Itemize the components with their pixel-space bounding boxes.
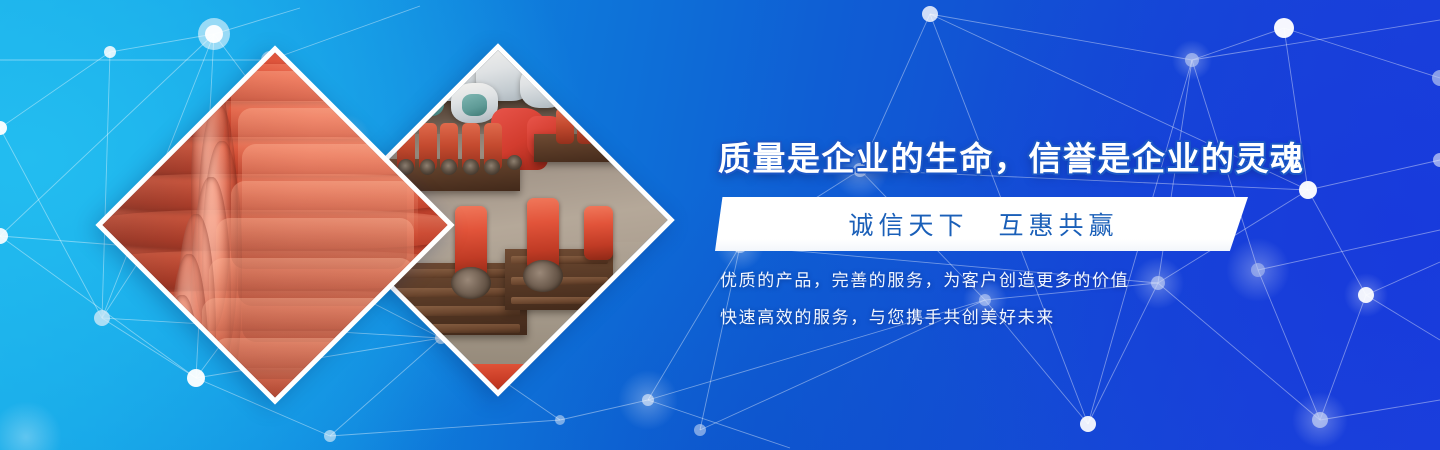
promotional-banner: 质量是企业的生命，信誉是企业的灵魂 诚信天下 互惠共赢 优质的产品，完善的服务，…	[0, 0, 1440, 450]
shaft-bore	[420, 159, 436, 175]
shaft-flange	[451, 267, 491, 299]
headline-slogan: 质量是企业的生命，信誉是企业的灵魂	[718, 137, 1248, 181]
ribbon-slogan-text: 诚信天下 互惠共赢	[715, 197, 1248, 251]
drive-shaft	[584, 206, 613, 260]
shaft-bore	[441, 159, 457, 175]
shaft-bore	[484, 159, 500, 175]
subtitle-line-2: 快速高效的服务，与您携手共创美好未来	[720, 303, 1240, 328]
pallet-slat	[375, 288, 521, 297]
shaft-bore	[463, 159, 479, 175]
subtitle-line-1: 优质的产品，完善的服务，为客户创造更多的价值	[720, 266, 1240, 291]
shaft-flange	[523, 260, 563, 292]
ribbon-banner: 诚信天下 互惠共赢	[715, 197, 1248, 251]
teal-wrap	[462, 94, 487, 116]
